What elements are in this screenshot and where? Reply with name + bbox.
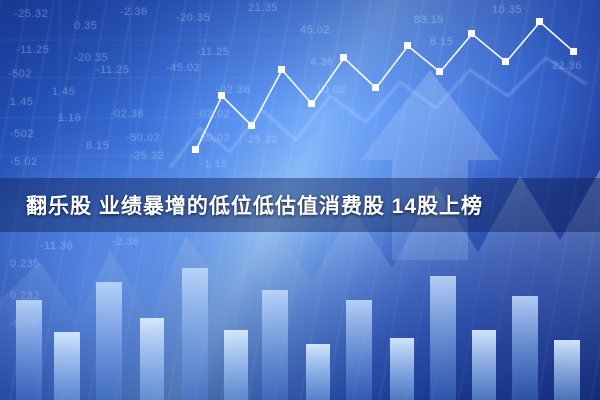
headline-band: 翻乐股 业绩暴增的低位低估值消费股 14股上榜 (0, 178, 600, 232)
grid-lines (0, 0, 300, 175)
banner-image: -25.320.35-2.36-20.3521.3545.0283.1510.3… (0, 0, 600, 400)
headline-text: 翻乐股 业绩暴增的低位低估值消费股 14股上榜 (0, 190, 483, 220)
